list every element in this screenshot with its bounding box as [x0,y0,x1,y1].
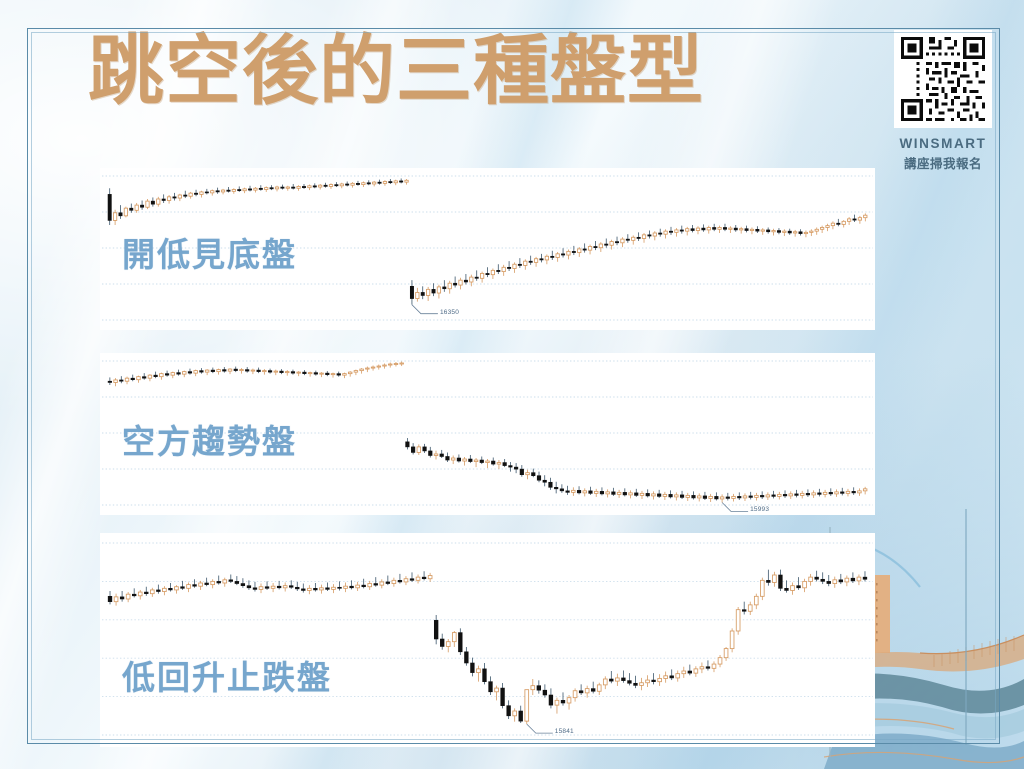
panel-3-price-tag: 15841 [555,728,574,735]
qr-code-icon[interactable] [894,30,992,128]
chart-panel-1[interactable]: 開低見底盤 16350 [100,168,875,330]
panel-3-label: 低回升止跌盤 [122,651,332,699]
chart-panel-2[interactable]: 空方趨勢盤 15993 [100,353,875,515]
panel-3-candlestick [100,533,875,747]
panel-1-price-tag: 16350 [440,309,459,316]
chart-panel-3[interactable]: 低回升止跌盤 15841 [100,533,875,747]
panel-2-price-tag: 15993 [750,506,769,513]
qr-caption-label: 講座掃我報名 [884,153,1002,172]
panel-2-label: 空方趨勢盤 [122,415,297,463]
qr-brand-label: WINSMART [884,136,1002,151]
panel-1-label: 開低見底盤 [122,228,297,276]
slide-canvas: 跳空後的三種盤型 [0,0,1024,769]
qr-signup-block[interactable]: WINSMART 講座掃我報名 [884,30,1002,172]
page-title: 跳空後的三種盤型 [88,26,704,116]
